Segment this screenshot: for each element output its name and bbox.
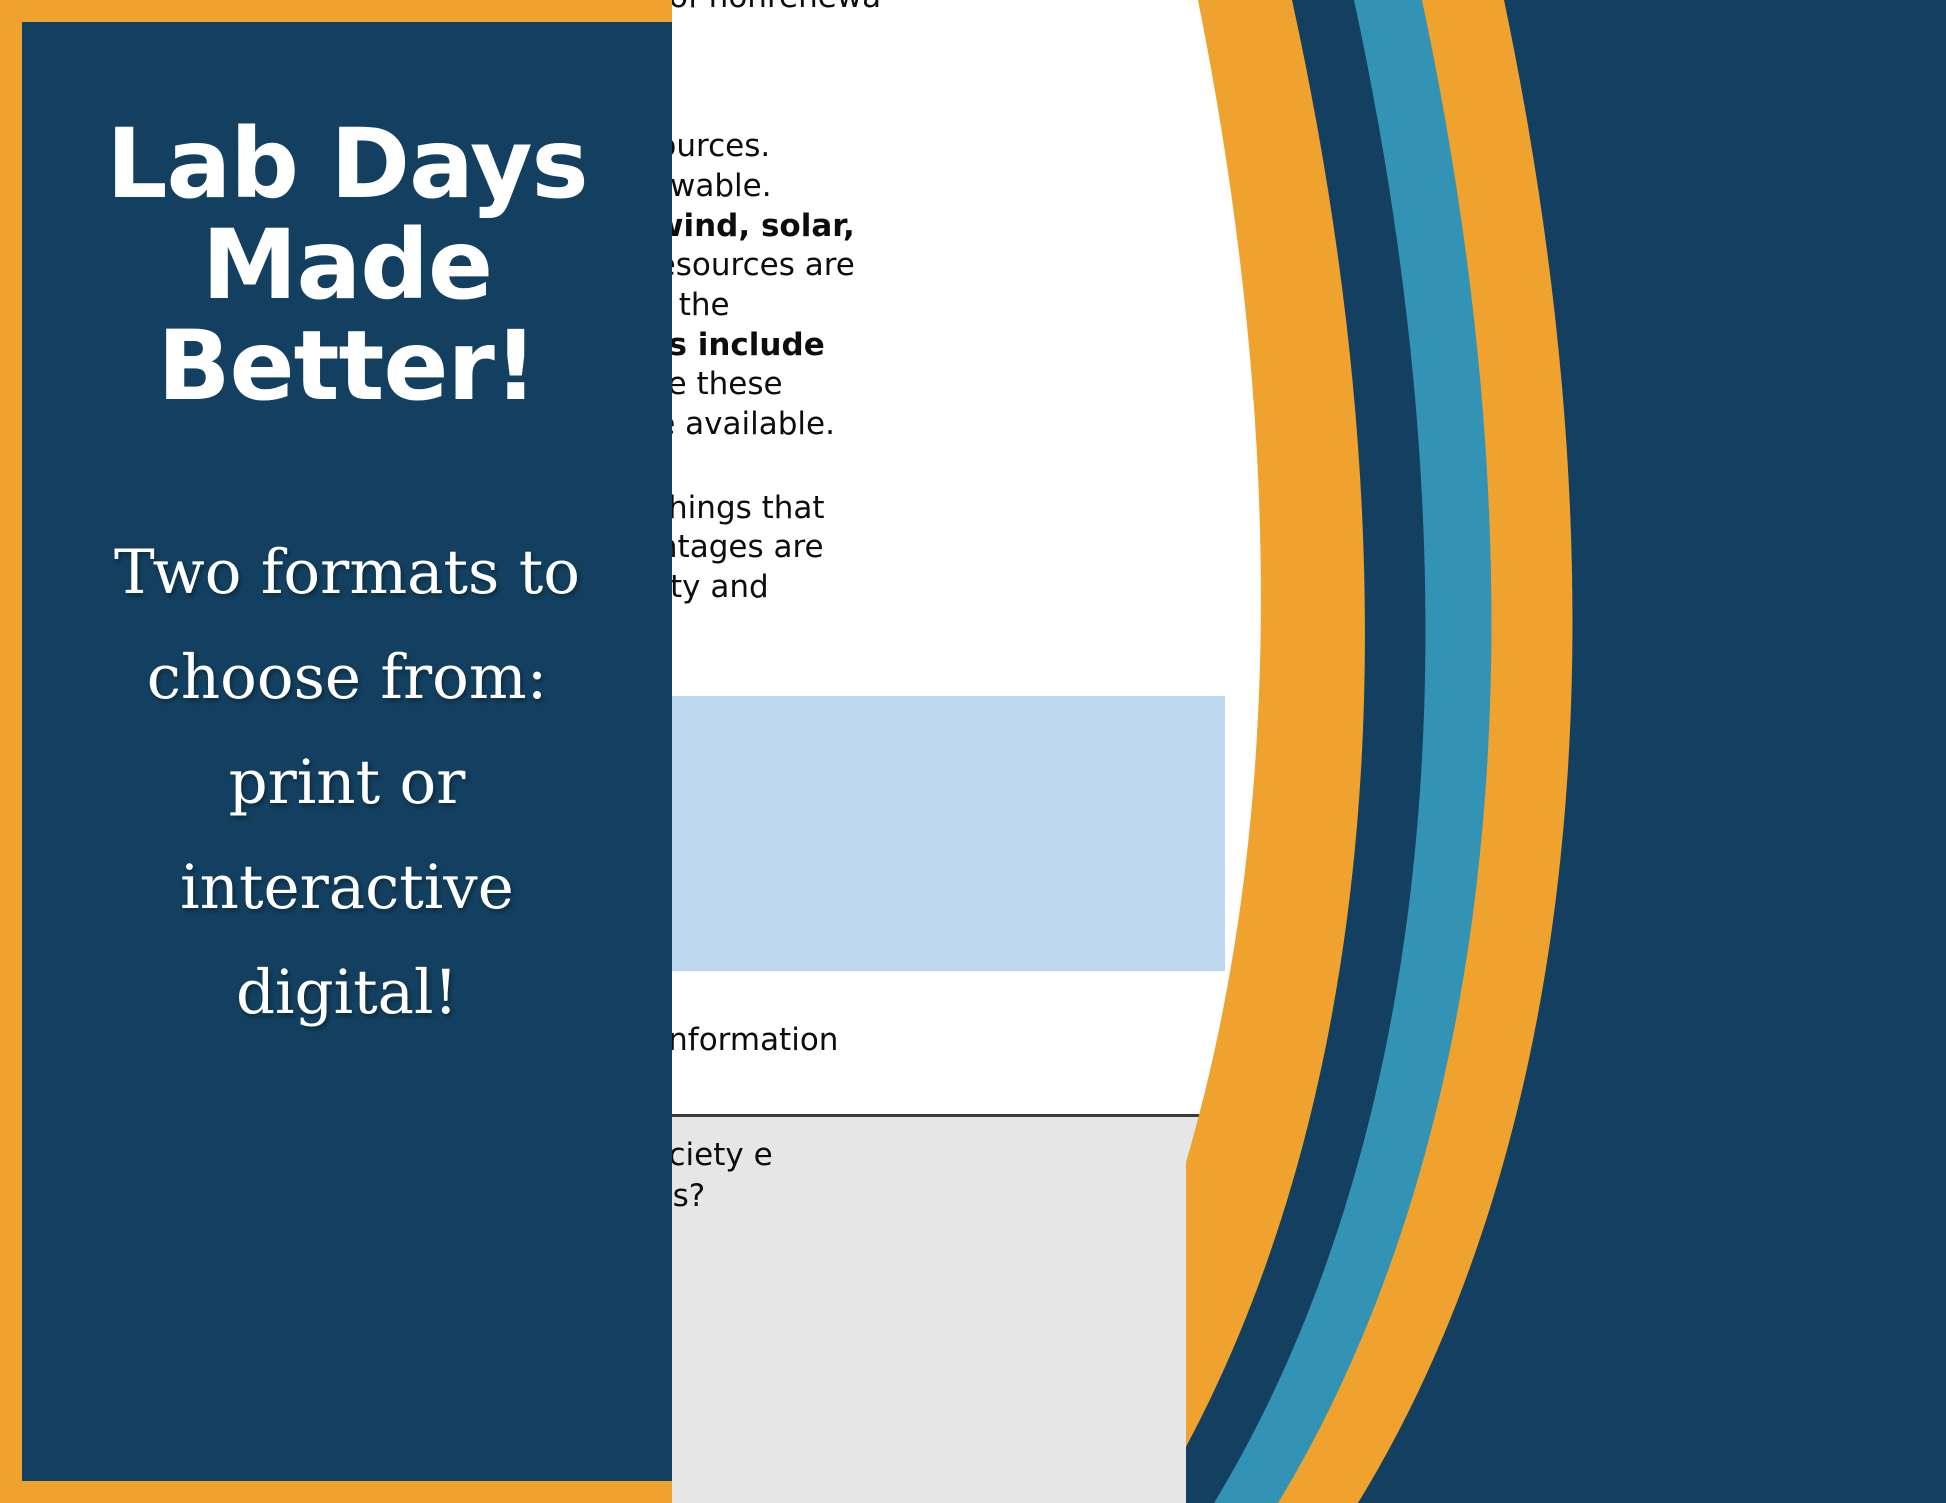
left-feature-panel-inner: Lab Days Made Better! Two formats to cho… xyxy=(22,22,672,1481)
page-title: Lab Days Made Better! xyxy=(106,114,587,416)
headline-line-3: Better! xyxy=(106,316,587,417)
subtitle-line-1: Two formats to xyxy=(114,521,580,626)
headline-line-1: Lab Days xyxy=(106,114,587,215)
headline-line-2: Made xyxy=(106,215,587,316)
subtitle-line-3: print or xyxy=(114,731,580,836)
page-subtitle: Two formats to choose from: print or int… xyxy=(114,521,580,1046)
subtitle-line-5: digital! xyxy=(114,941,580,1046)
subtitle-line-4: interactive xyxy=(114,836,580,941)
subtitle-line-2: choose from: xyxy=(114,626,580,731)
left-feature-panel: Lab Days Made Better! Two formats to cho… xyxy=(0,0,672,1503)
derrick-right-leg xyxy=(1443,560,1460,1070)
